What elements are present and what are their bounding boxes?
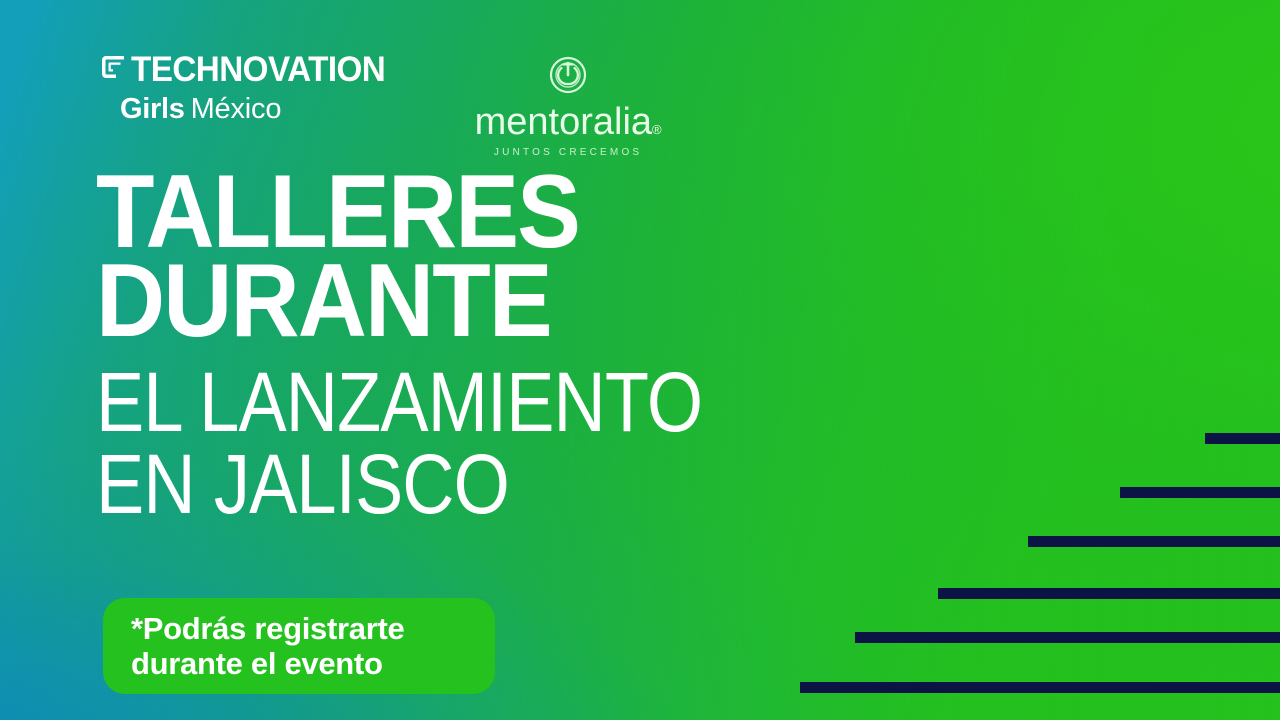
mentoralia-registered-symbol: ® (652, 122, 662, 137)
mentoralia-circle-emblem-icon (547, 54, 589, 101)
registration-note-badge: *Podrás registrarte durante el evento (103, 598, 495, 694)
mentoralia-logo: mentoralia® JUNTOS CRECEMOS (475, 54, 662, 158)
technovation-girls-logo: TECHNOVATION Girls México (98, 52, 399, 124)
promotional-poster: TECHNOVATION Girls México mentoralia® (0, 0, 1280, 720)
technovation-logo-top: TECHNOVATION (98, 52, 399, 87)
logo-row: TECHNOVATION Girls México mentoralia® (98, 52, 662, 158)
technovation-bracket-mark-icon (98, 52, 128, 87)
headline-line-3: EL LANZAMIENTO (96, 361, 702, 443)
staircase-bar (1028, 536, 1280, 547)
staircase-bar (1120, 487, 1280, 498)
technovation-wordmark: TECHNOVATION (131, 52, 385, 87)
mentoralia-wordmark: mentoralia® (475, 103, 662, 141)
badge-line-1: *Podrás registrarte (131, 611, 495, 646)
headline-block: TALLERES DURANTE EL LANZAMIENTO EN JALIS… (96, 168, 801, 526)
technovation-girls-label: Girls (120, 95, 185, 124)
staircase-bar (1205, 433, 1280, 444)
headline-line-4: EN JALISCO (96, 443, 702, 525)
badge-line-2: durante el evento (131, 646, 495, 681)
technovation-sublabel: Girls México (120, 95, 399, 124)
staircase-bar (855, 632, 1280, 643)
staircase-bar (800, 682, 1280, 693)
headline-line-2: DURANTE (96, 257, 744, 346)
staircase-bar (938, 588, 1280, 599)
technovation-mexico-label: México (191, 95, 282, 124)
mentoralia-wordmark-text: mentoralia (475, 101, 652, 143)
